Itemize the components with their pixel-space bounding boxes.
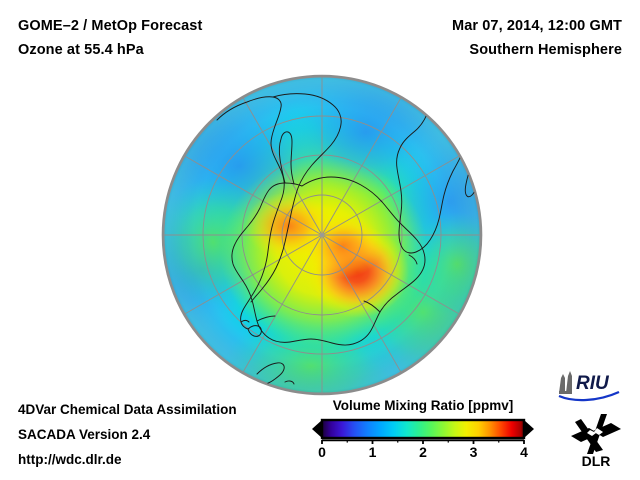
footer-url[interactable]: http://wdc.dlr.de: [18, 452, 122, 467]
visualization-page: GOME–2 / MetOp Forecast Ozone at 55.4 hP…: [0, 0, 640, 480]
south-pole-marker: [320, 233, 324, 237]
colorbar-over-arrow: [524, 420, 534, 438]
dlr-logo: DLR: [563, 410, 633, 468]
title-variable-level: Ozone at 55.4 hPa: [18, 42, 144, 58]
dlr-emblem-icon: [571, 414, 621, 454]
riu-wordmark: RIU: [576, 373, 610, 394]
ozone-field-svg: [161, 74, 483, 396]
colorbar-tick-1: 1: [361, 444, 385, 460]
riu-tower-icon: [559, 371, 572, 394]
title-instrument: GOME–2 / MetOp Forecast: [18, 18, 202, 34]
hemisphere-label: Southern Hemisphere: [469, 42, 622, 58]
globe-map: [161, 74, 483, 396]
colorbar-title: Volume Mixing Ratio [ppmv]: [312, 398, 534, 413]
colorbar-under-arrow: [312, 420, 322, 438]
colorbar: Volume Mixing Ratio [ppmv]: [312, 398, 534, 470]
footer-version: SACADA Version 2.4: [18, 427, 150, 442]
riu-logo: RIU: [557, 369, 633, 403]
dlr-wordmark: DLR: [582, 453, 611, 468]
colorbar-tick-3: 3: [462, 444, 486, 460]
colorbar-tick-4: 4: [512, 444, 536, 460]
colorbar-gradient: [312, 418, 534, 444]
colorbar-tick-labels: 0 1 2 3 4: [312, 444, 534, 466]
colorbar-tick-2: 2: [411, 444, 435, 460]
footer-method: 4DVar Chemical Data Assimilation: [18, 402, 237, 417]
timestamp-label: Mar 07, 2014, 12:00 GMT: [452, 18, 622, 34]
colorbar-tick-0: 0: [310, 444, 334, 460]
